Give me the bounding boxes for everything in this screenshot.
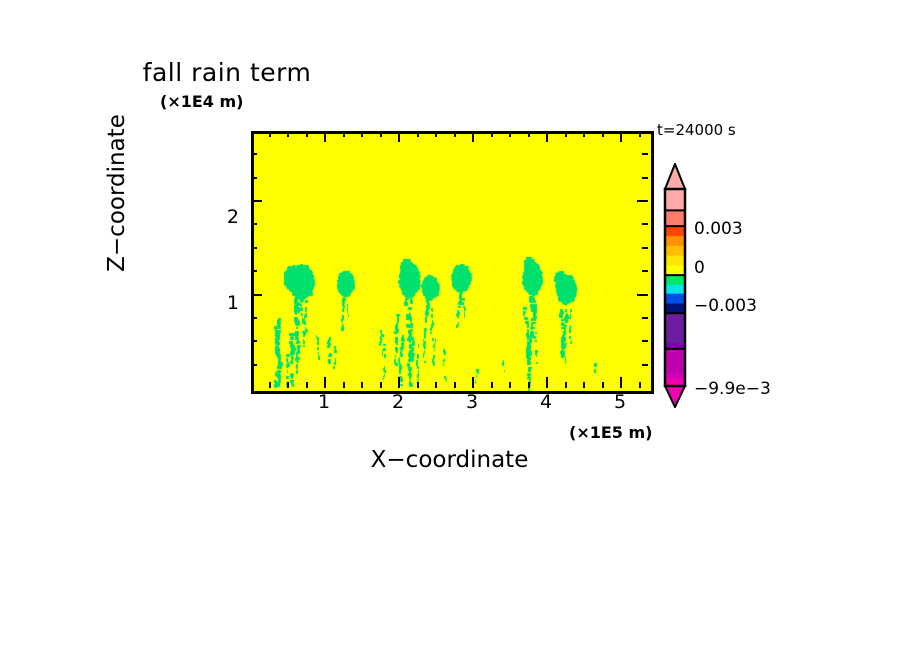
colorbar-band-9 [665,294,685,304]
x-minor-tick [361,382,363,388]
x-major-tick [546,377,548,388]
x-minor-tick-top [639,131,641,137]
x-minor-tick [602,382,604,388]
x-minor-tick [454,382,456,388]
y-axis-title: Z−coordinate [104,63,130,323]
x-minor-tick-top [509,131,511,137]
colorbar [663,163,687,408]
x-axis-title: X−coordinate [251,447,648,473]
colorbar-arrow-bottom [665,386,685,407]
y-minor-tick [251,247,257,249]
x-minor-tick-top [361,131,363,137]
y-major-tick-right [637,294,648,296]
x-minor-tick-top [583,131,585,137]
colorbar-band-4 [665,246,685,256]
x-major-tick [472,377,474,388]
colorbar-band-1 [665,210,685,226]
x-tick-label-4: 4 [531,391,561,413]
y-tick-label-1: 1 [213,292,239,314]
y-minor-tick-right [642,153,648,155]
colorbar-svg [663,163,687,408]
x-major-tick-top [398,131,400,142]
x-minor-tick [509,382,511,388]
y-minor-tick-right [642,177,648,179]
x-minor-tick-top [602,131,604,137]
y-minor-tick-right [642,247,648,249]
y-minor-tick [251,223,257,225]
x-minor-tick [639,382,641,388]
x-minor-tick [417,382,419,388]
colorbar-band-3 [665,236,685,246]
y-minor-tick-right [642,364,648,366]
colorbar-band-11 [665,313,685,343]
x-minor-tick-top [565,131,567,137]
y-minor-tick-right [642,340,648,342]
x-minor-tick-top [343,131,345,137]
colorbar-arrow-top [665,164,685,189]
colorbar-band-10 [665,303,685,313]
x-minor-tick-top [287,131,289,137]
y-minor-tick [251,364,257,366]
colorbar-band-6 [665,265,685,275]
y-minor-tick [251,177,257,179]
colorbar-band-2 [665,226,685,236]
x-minor-tick [287,382,289,388]
x-minor-tick [343,382,345,388]
x-minor-tick-top [269,131,271,137]
y-major-tick-right [637,200,648,202]
x-minor-tick-top [306,131,308,137]
x-major-tick-top [620,131,622,142]
x-minor-tick-top [380,131,382,137]
x-major-tick [398,377,400,388]
colorbar-band-0 [665,189,685,211]
x-minor-tick [380,382,382,388]
x-minor-tick-top [454,131,456,137]
x-major-tick [620,377,622,388]
y-minor-tick [251,340,257,342]
colorbar-band-8 [665,285,685,294]
x-major-tick [324,377,326,388]
x-major-tick-top [546,131,548,142]
colorbar-band-7 [665,275,685,285]
y-minor-tick-right [642,223,648,225]
y-minor-tick-right [642,317,648,319]
x-tick-label-3: 3 [457,391,487,413]
x-major-tick-top [324,131,326,142]
x-minor-tick-top [417,131,419,137]
y-major-tick [251,294,262,296]
colorbar-band-5 [665,256,685,266]
y-minor-tick [251,153,257,155]
colorbar-label-1: 0 [694,258,705,278]
colorbar-label-0: 0.003 [694,219,743,239]
colorbar-band-13 [665,349,685,374]
x-minor-tick [435,382,437,388]
y-minor-tick [251,317,257,319]
x-minor-tick [269,382,271,388]
colorbar-label-3: −9.9e−3 [694,379,771,399]
x-minor-tick [565,382,567,388]
y-tick-label-2: 2 [213,206,239,228]
y-minor-tick [251,270,257,272]
x-minor-tick-top [491,131,493,137]
x-tick-label-5: 5 [605,391,635,413]
colorbar-label-2: −0.003 [694,296,757,316]
colorbar-band-14 [665,373,685,379]
x-axis-unit-label: (×1E5 m) [569,423,652,442]
y-major-tick [251,200,262,202]
x-minor-tick-top [528,131,530,137]
x-tick-label-2: 2 [383,391,413,413]
x-minor-tick [528,382,530,388]
x-tick-label-1: 1 [309,391,339,413]
x-major-tick-top [472,131,474,142]
x-minor-tick [583,382,585,388]
y-minor-tick-right [642,270,648,272]
x-minor-tick-top [435,131,437,137]
axis-tick-layer [0,0,904,654]
x-minor-tick [306,382,308,388]
x-minor-tick [491,382,493,388]
